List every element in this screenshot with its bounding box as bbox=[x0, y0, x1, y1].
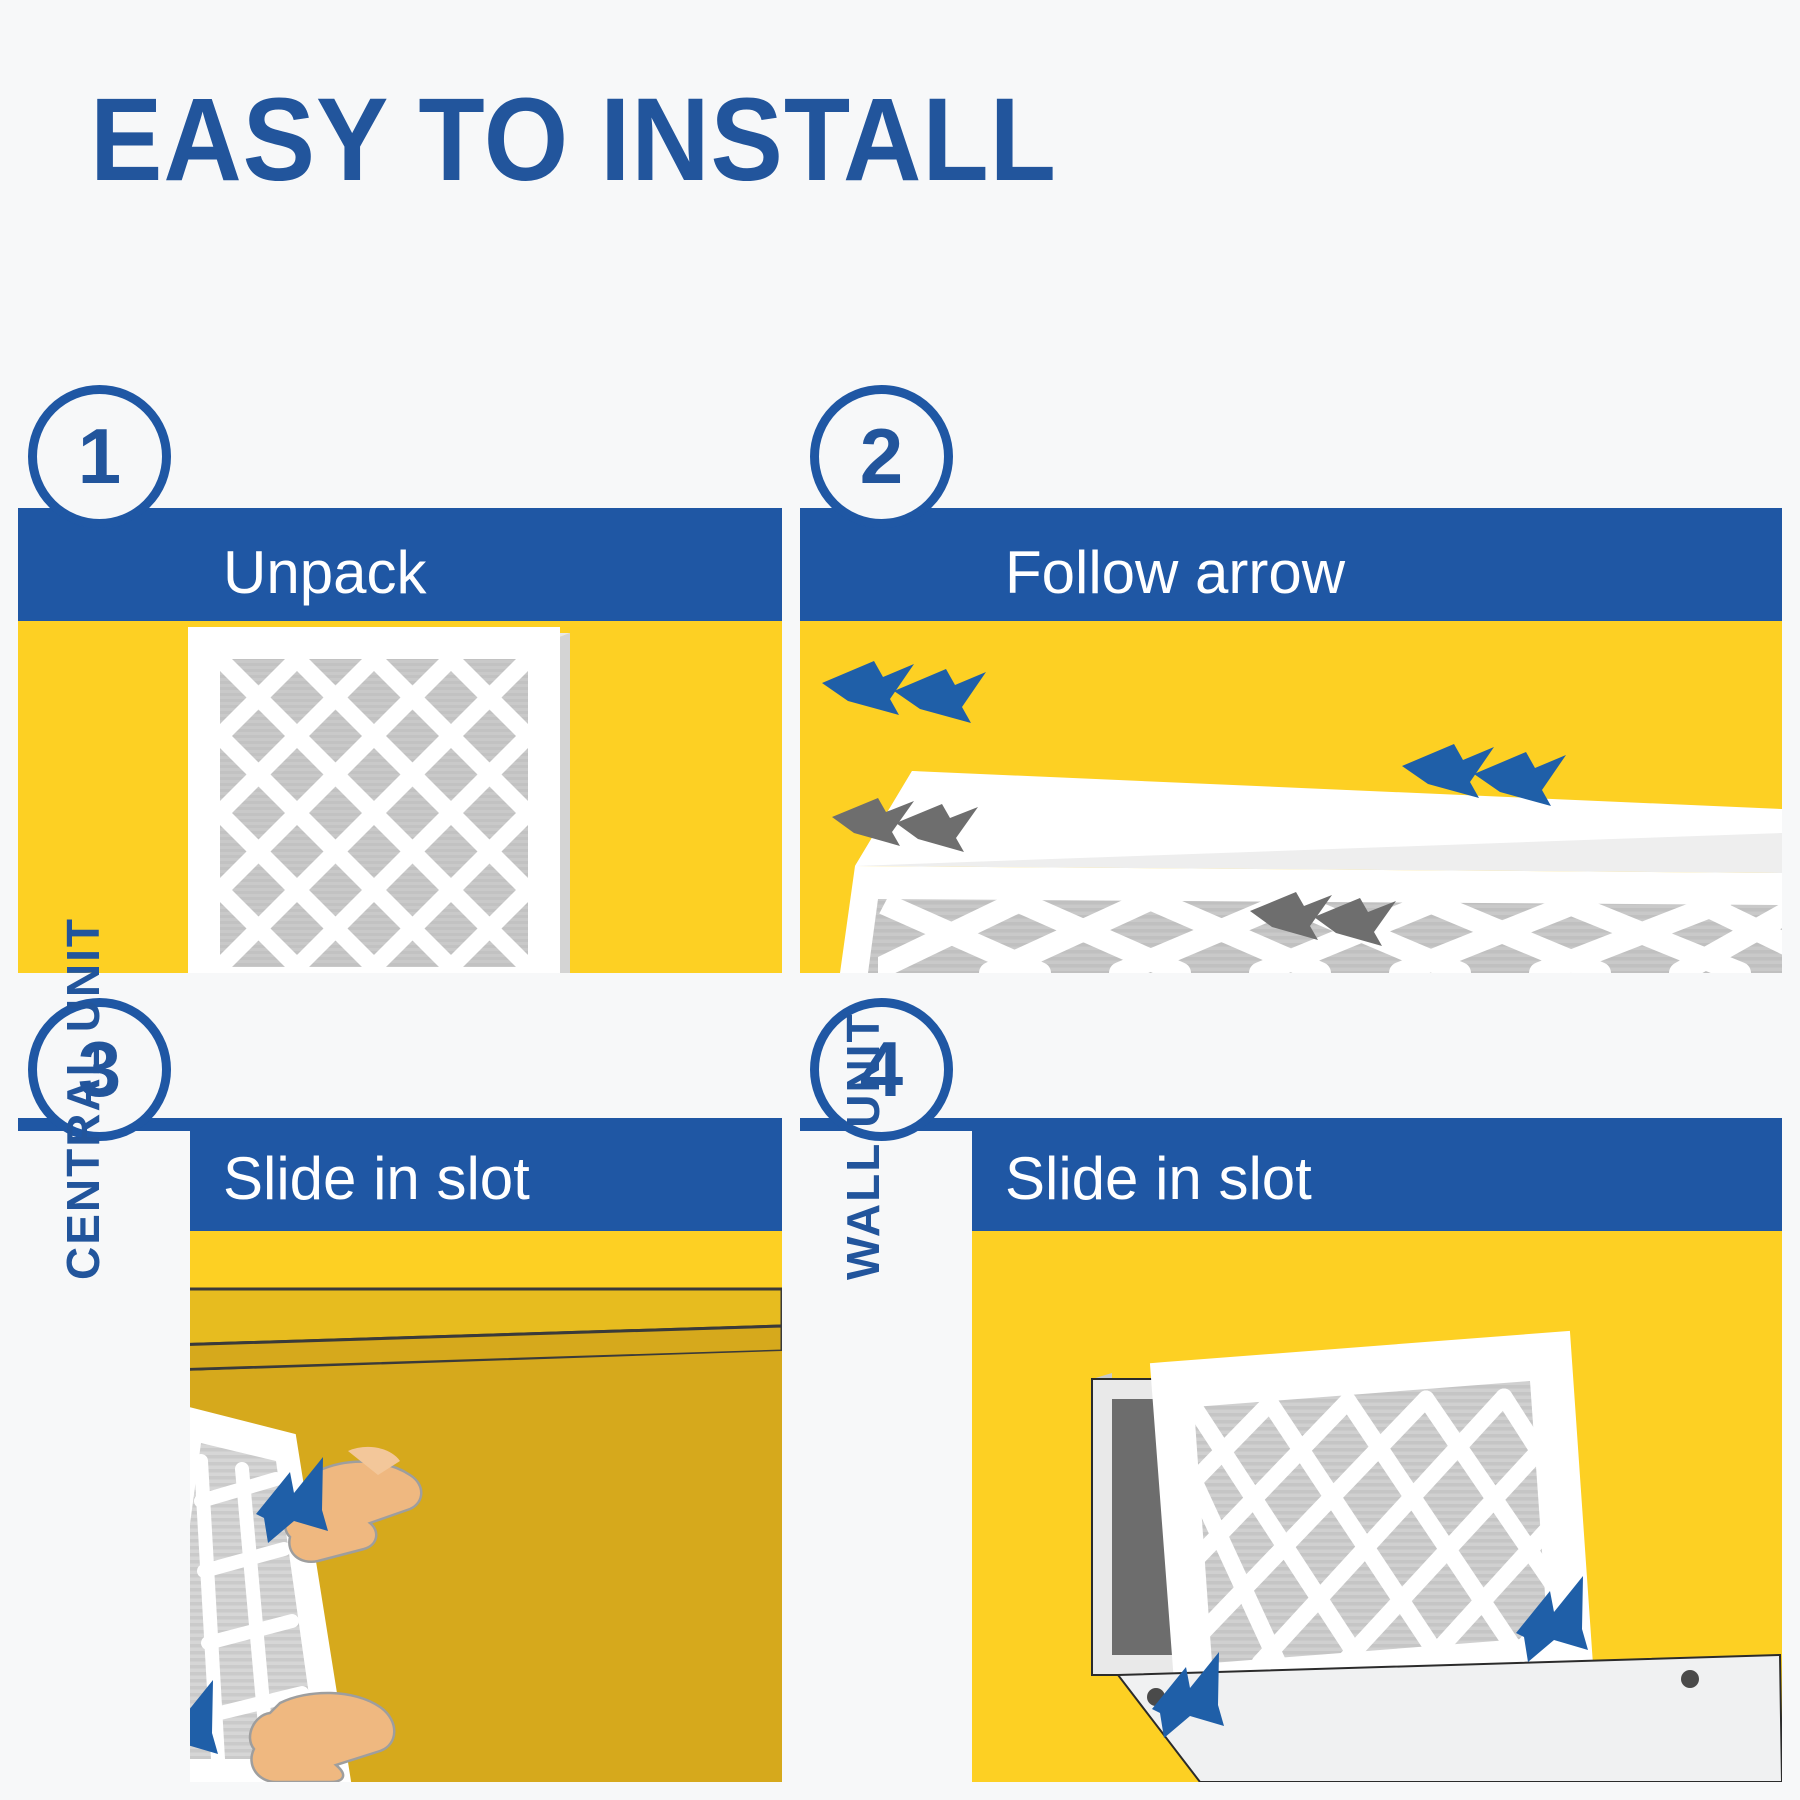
step-2-illustration-area bbox=[800, 621, 1782, 973]
pleated-filter-media-icon bbox=[1166, 1341, 1584, 1695]
vent-screw-icon bbox=[1681, 1670, 1699, 1688]
step-3-label: Slide in slot bbox=[223, 1144, 530, 1213]
step-3-side-label: CENTRAL UNIT bbox=[56, 917, 110, 1280]
airflow-arrow-blue-icon bbox=[822, 661, 986, 723]
step-1-illustration-area bbox=[18, 621, 782, 973]
step-1-label: Unpack bbox=[223, 538, 426, 607]
step-2-number: 2 bbox=[860, 411, 903, 502]
step-4-label: Slide in slot bbox=[1005, 1144, 1312, 1213]
page-title: EASY TO INSTALL bbox=[90, 72, 1057, 208]
step-1-number-badge: 1 bbox=[28, 385, 171, 528]
step-4-side-label: WALL UNIT bbox=[836, 1012, 890, 1280]
step-2-label: Follow arrow bbox=[1005, 538, 1345, 607]
panel-gutter-vertical bbox=[782, 395, 800, 1800]
panel-gutter-left bbox=[0, 395, 18, 1800]
panel-gutter-right bbox=[1782, 395, 1800, 1800]
infographic-root: EASY TO INSTALL bbox=[0, 0, 1800, 1800]
tilted-air-filter-with-airflow-arrows bbox=[800, 621, 1782, 973]
step-2-number-badge: 2 bbox=[810, 385, 953, 528]
step-1-number: 1 bbox=[78, 411, 121, 502]
flat-air-filter-front-view bbox=[18, 621, 782, 973]
